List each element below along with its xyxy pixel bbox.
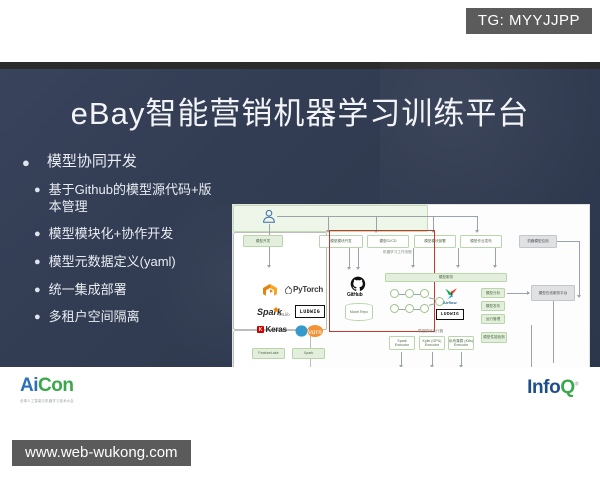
keras-logo-text: Keras xyxy=(266,325,287,334)
tensorflow-logo-icon xyxy=(259,283,281,299)
footer-bar: AiCon 全球人工智能与机器学习技术大会 InfoQ® xyxy=(0,367,600,425)
infoq-logo: InfoQ® xyxy=(527,377,578,399)
airflow-logo-icon xyxy=(445,288,458,300)
connector-line xyxy=(461,352,462,366)
list-item-label: 基于Github的模型源代码+版本管理 xyxy=(49,182,224,215)
user-icon xyxy=(261,209,277,224)
side-box-model-analysis[interactable]: 模型分析 xyxy=(481,288,505,298)
infoq-trademark: ® xyxy=(575,382,578,388)
arrow-icon xyxy=(356,267,360,270)
aicon-logo-suffix: Con xyxy=(38,375,73,396)
arrow-icon xyxy=(475,230,479,233)
dag-node xyxy=(390,304,399,313)
presentation-slide: eBay智能营销机器学习训练平台 ● 模型协同开发 ● 基于Github的模型源… xyxy=(0,62,600,367)
bullet-dot-icon: ● xyxy=(34,229,41,240)
scikit-learn-logo-icon: learn xyxy=(295,323,325,339)
executor-box-k8s[interactable]: 私有集群 (K8s) Executor xyxy=(448,336,474,350)
workflow-box-job-release[interactable]: 模型作业发布 xyxy=(460,235,502,248)
keras-logo: K Keras xyxy=(257,325,287,334)
svg-text:MLlib: MLlib xyxy=(279,312,290,317)
bullet-dot-icon: ● xyxy=(34,312,41,323)
list-item: ● 基于Github的模型源代码+版本管理 xyxy=(34,182,224,215)
list-item-label: 模型协同开发 xyxy=(47,152,137,171)
dag-edge xyxy=(399,309,405,310)
keras-k-icon: K xyxy=(257,326,264,333)
workflow-box-model-app[interactable]: 机器模型应用 xyxy=(519,235,557,248)
aicon-logo-prefix: Ai xyxy=(20,375,38,396)
architecture-diagram: 模型开发 模型模块开发 模型CI/CD 模型模块部署 模型作业发布 机器学习工作… xyxy=(232,204,590,367)
connector-line xyxy=(401,352,402,366)
connector-line xyxy=(413,248,414,266)
dag-edge xyxy=(414,294,420,295)
connector-line xyxy=(495,248,496,266)
side-box-model-release[interactable]: 模型发布 xyxy=(481,301,505,311)
connector-line xyxy=(557,241,579,242)
bullet-list: ● 模型协同开发 ● 基于Github的模型源代码+版本管理 ● 模型模块化+协… xyxy=(14,152,224,337)
dag-node xyxy=(405,304,414,313)
connector-line xyxy=(458,248,459,266)
arrow-icon xyxy=(347,267,351,270)
list-item: ● 模型元数据定义(yaml) xyxy=(34,254,224,271)
dag-edge xyxy=(414,309,420,310)
telegram-watermark-badge: TG: MYYJJPP xyxy=(466,8,592,34)
side-box-run-management[interactable]: 运行管理 xyxy=(481,314,505,324)
connector-line xyxy=(349,248,350,268)
dag-node xyxy=(420,289,429,298)
arrow-icon xyxy=(493,265,497,268)
side-box-model-perf[interactable]: 模型性能检测 xyxy=(481,332,507,343)
ludwig-logo-center: LUDWIG xyxy=(436,309,464,320)
dag-node xyxy=(390,289,399,298)
model-service-header: 模型服务 xyxy=(385,273,507,282)
list-item: ● 模型协同开发 xyxy=(14,152,224,171)
executor-box-kylin[interactable]: Kylin (GPU) Executor xyxy=(419,336,445,350)
list-item-label: 模型元数据定义(yaml) xyxy=(49,254,176,271)
executor-box-spark[interactable]: Spark Executor xyxy=(389,336,415,350)
arrow-icon xyxy=(527,291,530,295)
spark-mllib-logo-icon: Spark MLlib xyxy=(257,305,291,318)
executor-caption: 模型模块执行器 xyxy=(418,329,443,334)
arrow-icon xyxy=(456,265,460,268)
bullet-dot-icon: ● xyxy=(22,156,30,169)
connector-line xyxy=(432,352,433,366)
bullet-dot-icon: ● xyxy=(34,257,41,268)
arrow-icon xyxy=(267,265,271,268)
list-item: ● 多租户空间隔离 xyxy=(34,309,224,326)
airflow-logo-text: Airflow xyxy=(443,300,457,305)
bullet-dot-icon: ● xyxy=(34,285,41,296)
infoq-logo-suffix: Q xyxy=(560,377,574,398)
svg-text:learn: learn xyxy=(307,328,322,336)
right-platform-box[interactable]: 模型在线服务平台 xyxy=(531,285,575,301)
website-watermark: www.web-wukong.com xyxy=(12,440,191,466)
connector-line xyxy=(358,248,359,268)
model-repo-store: Model Repo xyxy=(345,303,373,321)
connector-line xyxy=(553,301,554,363)
infoq-logo-prefix: Info xyxy=(527,377,560,398)
tools-box-xpark[interactable]: Xpark xyxy=(292,348,325,359)
connector-line xyxy=(579,241,580,297)
list-item-label: 多租户空间隔离 xyxy=(49,309,140,326)
ludwig-logo: LUDWIG xyxy=(295,305,325,318)
list-item-label: 统一集成部署 xyxy=(49,282,127,299)
github-logo-icon xyxy=(350,276,366,292)
workflow-box-model-dev[interactable]: 模型开发 xyxy=(243,235,283,247)
tools-box-featurelake[interactable]: FeatureLake xyxy=(252,348,285,359)
github-logo-text: GitHub xyxy=(347,292,362,298)
connector-line xyxy=(507,293,529,294)
bullet-dot-icon: ● xyxy=(34,185,41,196)
arrow-icon xyxy=(577,295,581,298)
aicon-logo-subtitle: 全球人工智能与机器学习技术大会 xyxy=(20,398,74,403)
arrow-icon xyxy=(411,265,415,268)
list-item-label: 模型模块化+协作开发 xyxy=(49,226,174,243)
aicon-logo-text: AiCon xyxy=(20,375,74,397)
slide-title: eBay智能营销机器学习训练平台 xyxy=(0,88,600,133)
list-item: ● 统一集成部署 xyxy=(34,282,224,299)
aicon-logo: AiCon 全球人工智能与机器学习技术大会 xyxy=(20,375,74,403)
pytorch-logo-icon xyxy=(285,286,292,294)
list-item: ● 模型模块化+协作开发 xyxy=(34,226,224,243)
slide-page: TG: MYYJJPP eBay智能营销机器学习训练平台 ● 模型协同开发 ● … xyxy=(0,0,600,480)
dag-node xyxy=(405,289,414,298)
connector-line xyxy=(277,216,477,217)
dag-edge xyxy=(399,294,405,295)
pytorch-logo-text: PyTorch xyxy=(293,285,323,294)
connector-line xyxy=(531,325,532,367)
dag-node xyxy=(420,304,429,313)
